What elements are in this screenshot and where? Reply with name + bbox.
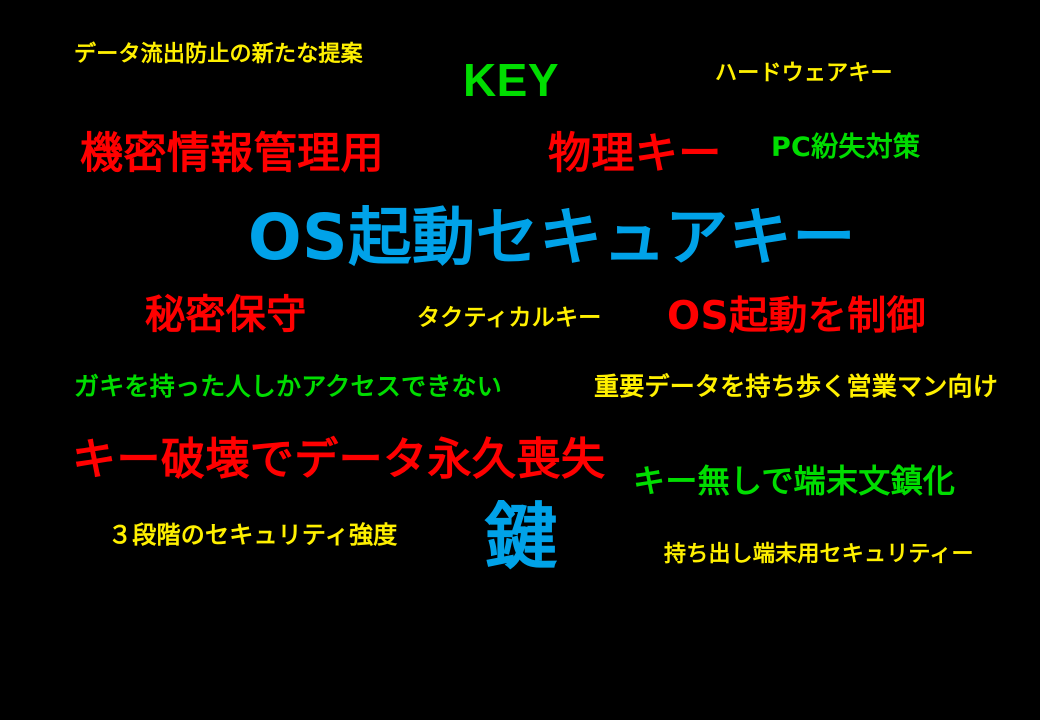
word-cloud-term: ガキを持った人しかアクセスできない	[74, 374, 502, 399]
word-cloud-term: OS起動を制御	[667, 297, 926, 336]
word-cloud-term: KEY	[463, 57, 559, 103]
word-cloud-term: PC紛失対策	[771, 134, 920, 161]
word-cloud-term: キー無しで端末文鎮化	[633, 465, 955, 497]
word-cloud-term: ３段階のセキュリティ強度	[108, 523, 397, 547]
word-cloud-term: 重要データを持ち歩く営業マン向け	[594, 374, 998, 399]
word-cloud-term: 秘密保守	[145, 295, 307, 335]
word-cloud-term: タクティカルキー	[417, 307, 601, 330]
word-cloud-term: OS起動セキュアキー	[248, 206, 856, 269]
word-cloud-term: 物理キー	[548, 133, 722, 176]
word-cloud-term: 鍵	[485, 501, 558, 573]
word-cloud-term: データ流出防止の新たな提案	[74, 44, 363, 66]
word-cloud-term: 機密情報管理用	[80, 133, 384, 176]
word-cloud-term: キー破壊でデータ永久喪失	[72, 438, 605, 482]
word-cloud-term: ハードウェアキー	[715, 63, 893, 85]
word-cloud-term: 持ち出し端末用セキュリティー	[664, 544, 974, 566]
word-cloud-canvas: データ流出防止の新たな提案KEYハードウェアキー機密情報管理用物理キーPC紛失対…	[0, 0, 1040, 720]
